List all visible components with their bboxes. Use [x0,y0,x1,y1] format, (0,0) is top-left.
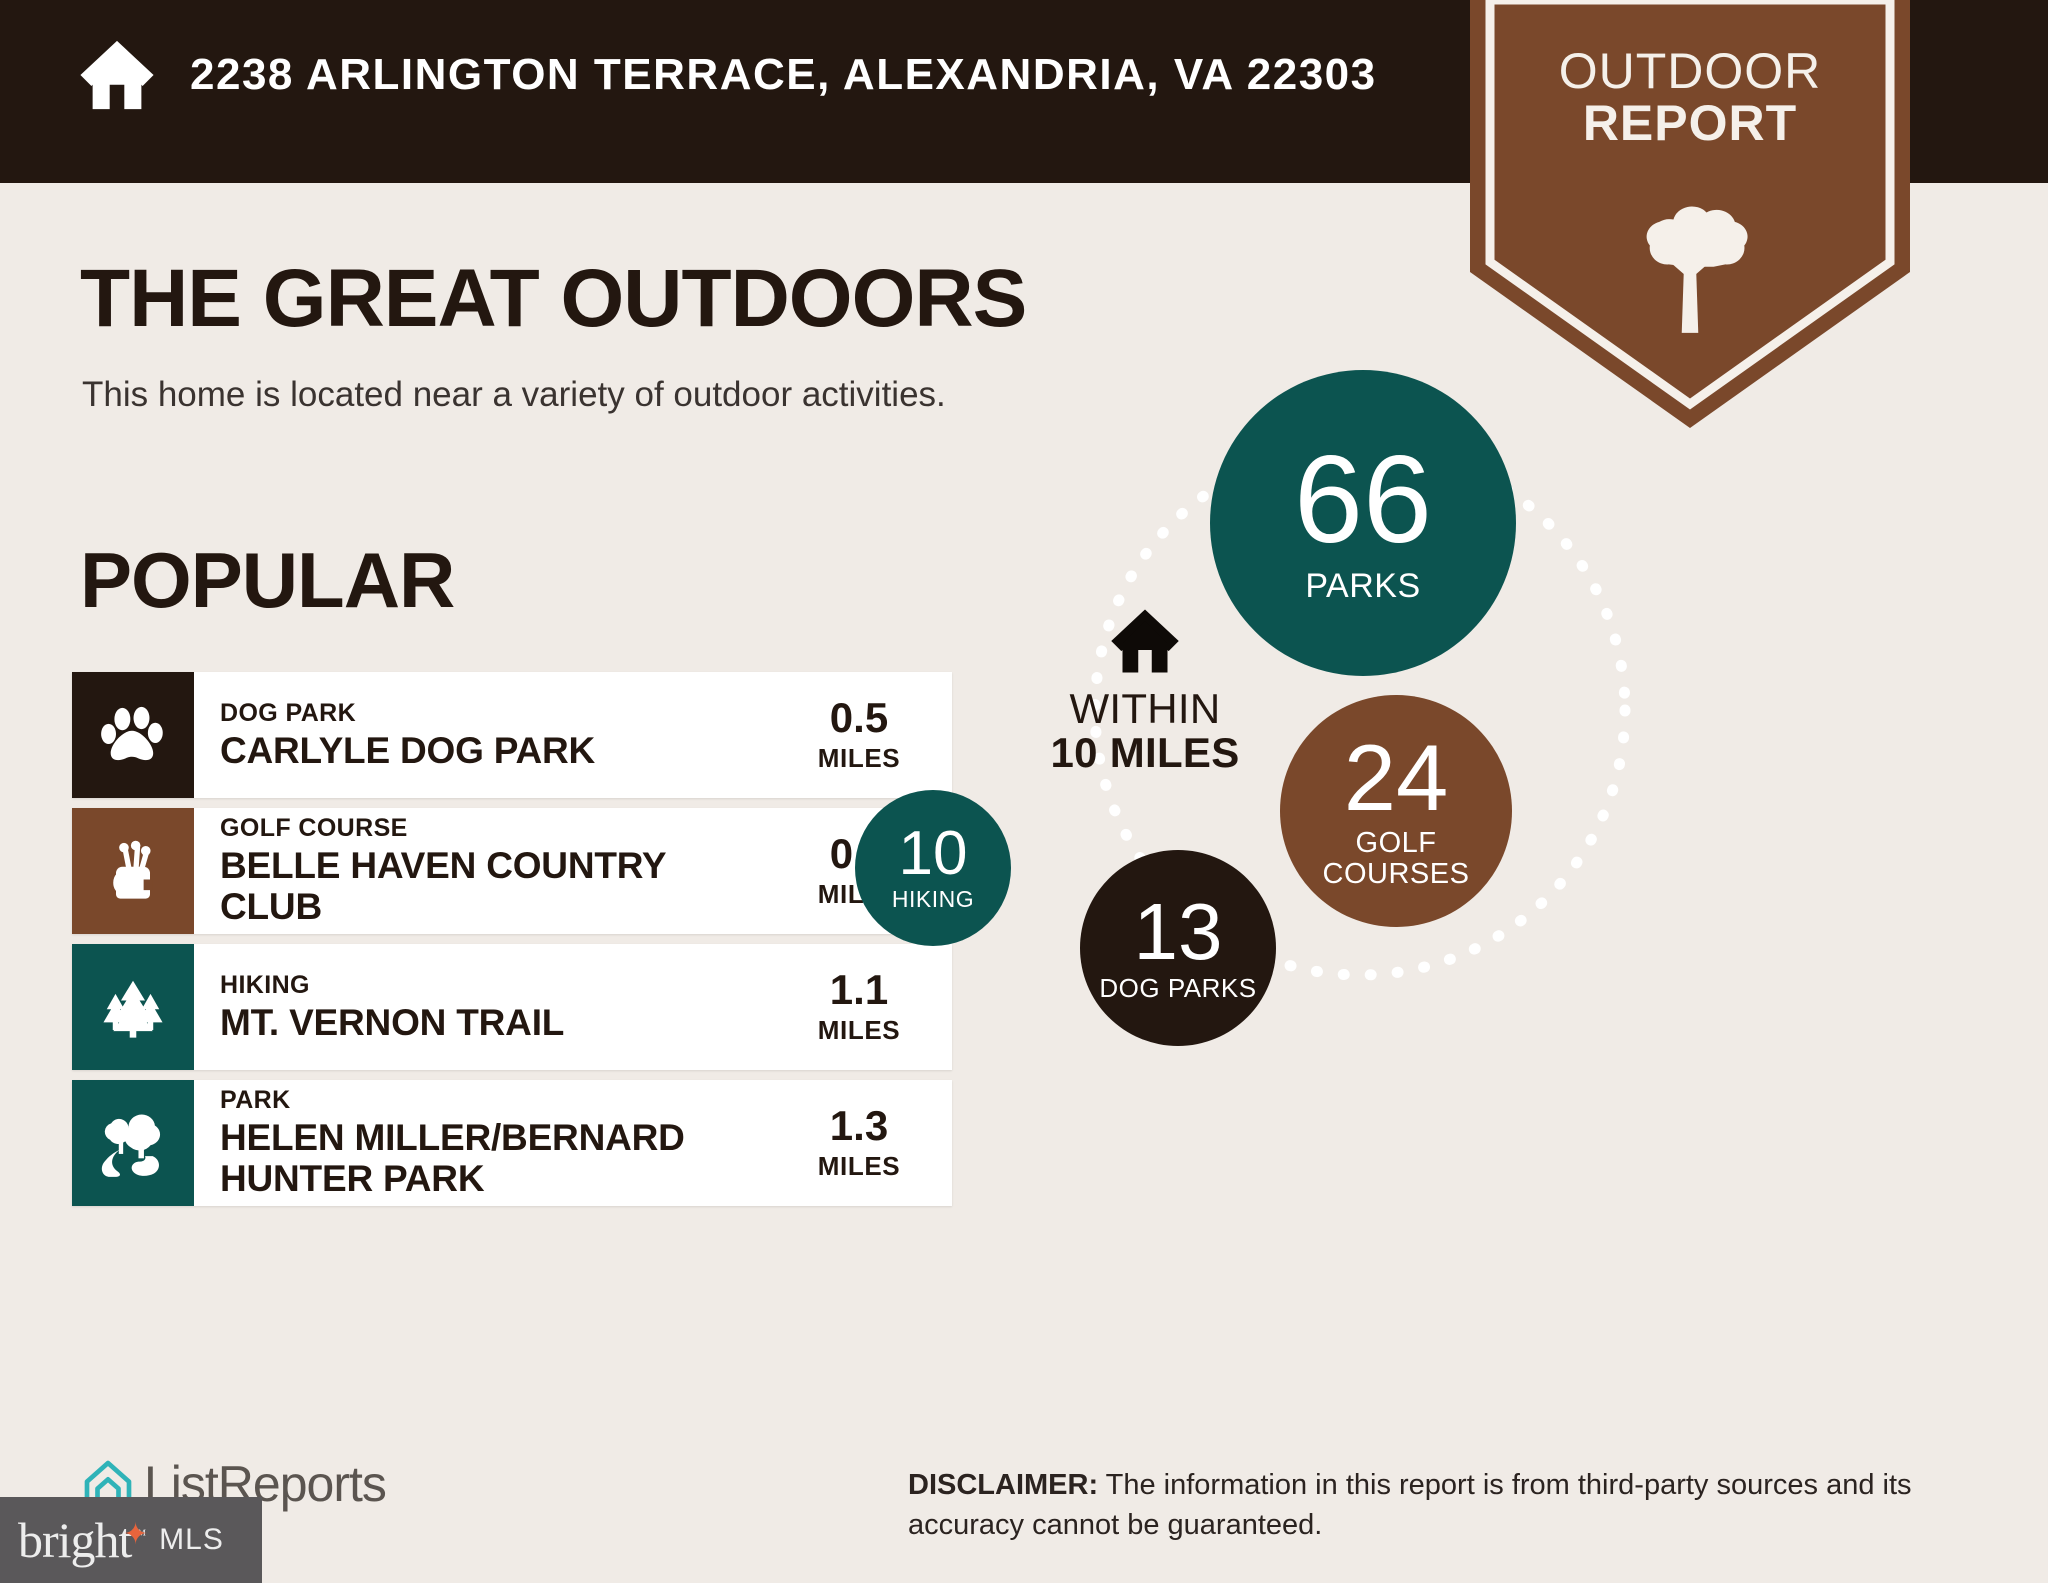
list-item-distance: 1.1 MILES [784,944,952,1070]
park-tree-path-icon [98,1108,168,1178]
outdoor-report-badge: OUTDOOR REPORT [1466,0,1914,432]
list-item[interactable]: DOG PARK CARLYLE DOG PARK 0.5 MILES [72,672,952,798]
list-item-category: DOG PARK [220,699,595,728]
stat-label: HIKING [892,887,974,911]
stat-value: 10 [899,825,968,884]
stat-value: 13 [1134,894,1223,970]
distance-value: 1.3 [830,1105,888,1147]
stat-bubble-dog-parks: 13 DOG PARKS [1080,850,1276,1046]
mls-suffix: MLS [159,1523,224,1557]
stat-label: DOG PARKS [1099,975,1256,1003]
distance-unit: MILES [818,1015,900,1046]
stat-value: 24 [1344,733,1449,822]
home-icon [1109,605,1181,677]
disclaimer-label: DISCLAIMER: [908,1469,1098,1501]
distance-value: 0.5 [830,697,888,739]
list-item-name: CARLYLE DOG PARK [220,730,595,771]
distance-unit: MILES [818,1151,900,1182]
page-subtitle: This home is located near a variety of o… [82,375,946,415]
disclaimer: DISCLAIMER: The information in this repo… [908,1465,1978,1545]
list-item-icon-tile [72,944,194,1070]
list-item-text: GOLF COURSE BELLE HAVEN COUNTRY CLUB [194,808,784,934]
list-item-text: HIKING MT. VERNON TRAIL [194,944,784,1070]
list-item-category: HIKING [220,971,564,1000]
list-item-icon-tile [72,808,194,934]
list-item[interactable]: PARK HELEN MILLER/BERNARD HUNTER PARK 1.… [72,1080,952,1206]
paw-icon [99,701,167,769]
popular-list: DOG PARK CARLYLE DOG PARK 0.5 MILES [72,672,952,1216]
header-content: 2238 ARLINGTON TERRACE, ALEXANDRIA, VA 2… [78,36,1377,114]
list-item-distance: 0.5 MILES [784,672,952,798]
amenities-circle-diagram: 66 PARKS 24 GOLF COURSES 13 DOG PARKS 10… [1060,420,1760,1160]
center-line-1: WITHIN [1015,687,1275,731]
section-heading-popular: POPULAR [80,535,454,626]
list-item-icon-tile [72,672,194,798]
distance-unit: MILES [818,743,900,774]
stat-value: 66 [1294,442,1432,560]
list-item-category: PARK [220,1086,774,1115]
stat-label: GOLF COURSES [1280,828,1512,889]
stat-label: PARKS [1305,568,1420,604]
pine-trees-icon [98,972,168,1042]
list-item[interactable]: GOLF COURSE BELLE HAVEN COUNTRY CLUB 0.8… [72,808,952,934]
property-address: 2238 ARLINGTON TERRACE, ALEXANDRIA, VA 2… [190,50,1377,100]
bright-mls-watermark: bright✦™ MLS [0,1497,262,1583]
distance-value: 1.1 [830,969,888,1011]
list-item-name: HELEN MILLER/BERNARD HUNTER PARK [220,1117,774,1200]
list-item[interactable]: HIKING MT. VERNON TRAIL 1.1 MILES [72,944,952,1070]
stat-bubble-hiking: 10 HIKING [855,790,1011,946]
page-title: THE GREAT OUTDOORS [80,252,1026,346]
list-item-icon-tile [72,1080,194,1206]
list-item-name: BELLE HAVEN COUNTRY CLUB [220,845,774,928]
mls-brand: bright✦™ [18,1511,145,1569]
list-item-name: MT. VERNON TRAIL [220,1002,564,1043]
golf-bag-icon [99,837,167,905]
home-icon [78,36,156,114]
mls-star-icon: ✦ [123,1517,147,1552]
list-item-text: PARK HELEN MILLER/BERNARD HUNTER PARK [194,1080,784,1206]
mls-brand-text: bright [18,1512,131,1568]
stat-bubble-golf-courses: 24 GOLF COURSES [1280,695,1512,927]
center-line-2: 10 MILES [1015,731,1275,775]
list-item-category: GOLF COURSE [220,814,774,843]
list-item-distance: 1.3 MILES [784,1080,952,1206]
diagram-center-label: WITHIN 10 MILES [1015,605,1275,774]
list-item-text: DOG PARK CARLYLE DOG PARK [194,672,784,798]
